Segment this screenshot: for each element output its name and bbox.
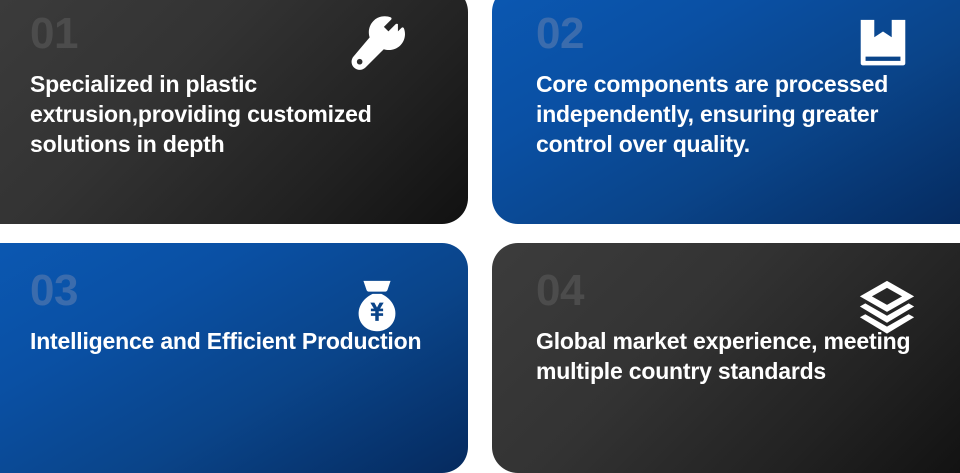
book-bookmark-icon: [852, 14, 914, 76]
feature-card-03[interactable]: 03 Intelligence and Efficient Production: [0, 243, 468, 473]
card-title: Specialized in plastic extrusion,providi…: [30, 70, 438, 160]
feature-card-02[interactable]: 02 Core components are processed indepen…: [492, 0, 960, 224]
feature-card-04[interactable]: 04 Global market experience, meeting mul…: [492, 243, 960, 473]
card-content: 04 Global market experience, meeting mul…: [522, 269, 944, 451]
card-content: 03 Intelligence and Efficient Production: [16, 269, 438, 451]
feature-card-grid: 01 Specialized in plastic extrusion,prov…: [0, 0, 960, 459]
feature-card-01[interactable]: 01 Specialized in plastic extrusion,prov…: [0, 0, 468, 224]
card-title: Core components are processed independen…: [536, 70, 944, 160]
card-content: 02 Core components are processed indepen…: [522, 12, 944, 202]
card-content: 01 Specialized in plastic extrusion,prov…: [16, 12, 438, 202]
money-bag-yen-icon: [346, 275, 408, 337]
wrench-icon: [346, 16, 408, 78]
layers-stack-icon: [856, 277, 918, 339]
